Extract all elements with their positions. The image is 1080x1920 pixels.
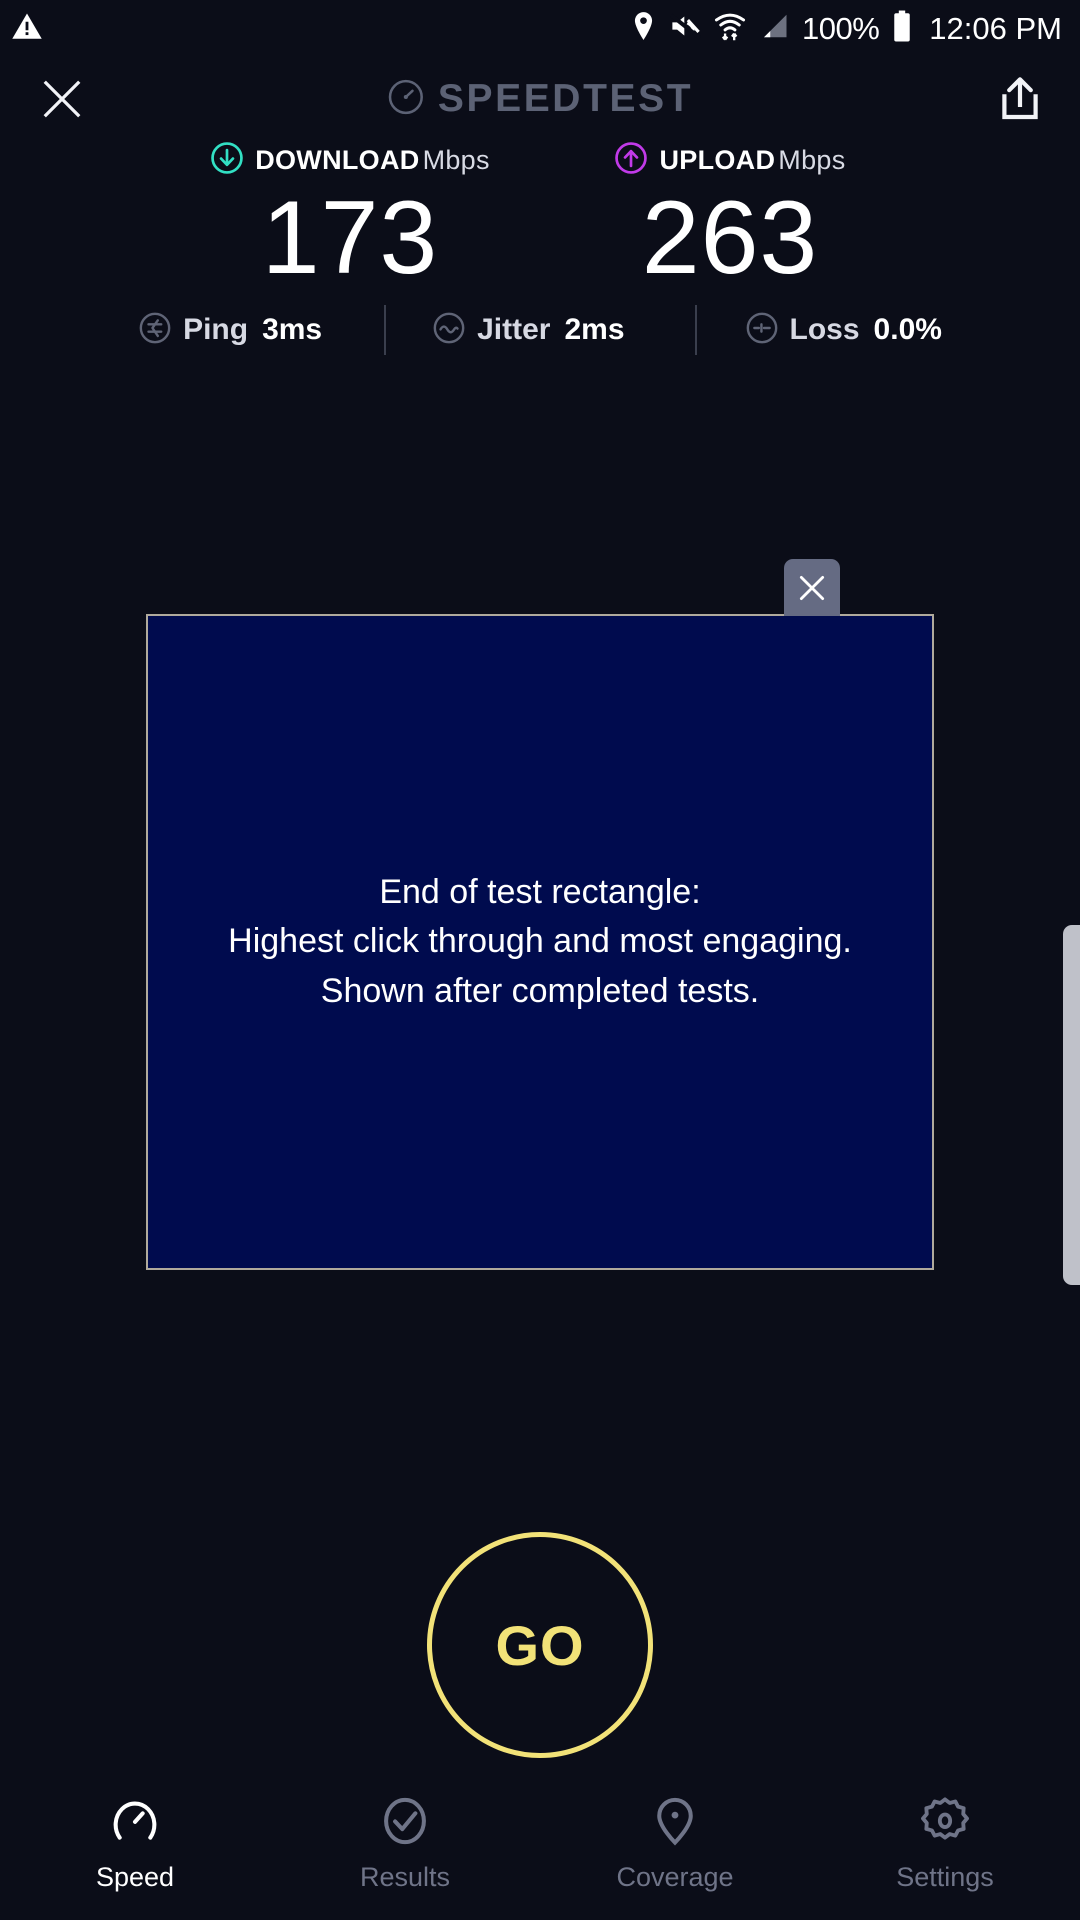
jitter-icon	[432, 311, 466, 350]
nav-label-speed: Speed	[96, 1862, 174, 1893]
nav-label-results: Results	[360, 1862, 450, 1893]
nav-item-speed[interactable]: Speed	[0, 1794, 270, 1893]
metrics-row: Ping 3ms Jitter 2ms	[0, 304, 1080, 356]
metric-divider	[384, 305, 386, 355]
metric-loss: Loss 0.0%	[745, 311, 942, 350]
close-button[interactable]	[34, 71, 90, 127]
download-label: DOWNLOADMbps	[255, 145, 490, 176]
upload-unit: Mbps	[778, 145, 845, 175]
gear-icon	[918, 1794, 972, 1848]
download-label-row: DOWNLOADMbps	[210, 140, 490, 180]
bottom-navigation: Speed Results Coverage Settings	[0, 1778, 1080, 1920]
status-bar-clock: 12:06 PM	[929, 13, 1062, 44]
warning-triangle-icon	[10, 9, 44, 48]
mute-icon	[670, 11, 701, 46]
metric-ping: Ping 3ms	[138, 311, 322, 350]
battery-full-icon	[892, 10, 912, 47]
close-icon	[796, 572, 828, 604]
share-icon[interactable]	[992, 71, 1048, 127]
download-unit: Mbps	[423, 145, 490, 175]
upload-value: 263	[642, 186, 819, 290]
location-pin-icon	[630, 11, 657, 46]
metric-ping-label: Ping	[183, 313, 248, 347]
upload-label-row: UPLOADMbps	[614, 140, 845, 180]
scrollbar-thumb[interactable]	[1063, 925, 1080, 1285]
metric-jitter-label: Jitter	[477, 313, 550, 347]
ping-icon	[138, 311, 172, 350]
speeds-row: DOWNLOADMbps 173 UPLOADMbps 263	[0, 140, 1080, 290]
metric-divider	[695, 305, 697, 355]
upload-label: UPLOADMbps	[659, 145, 845, 176]
metric-loss-label: Loss	[790, 313, 860, 347]
metric-loss-value: 0.0%	[874, 313, 942, 347]
battery-percent-label: 100%	[802, 13, 879, 44]
nav-item-settings[interactable]: Settings	[810, 1794, 1080, 1893]
cell-signal-icon	[759, 11, 789, 46]
upload-arrow-icon	[614, 141, 648, 180]
app-header: SPEEDTEST	[0, 60, 1080, 138]
location-pin-icon	[648, 1794, 702, 1848]
metric-jitter-value: 2ms	[564, 313, 624, 347]
download-value: 173	[262, 186, 439, 290]
download-arrow-icon	[210, 141, 244, 180]
brand-title: SPEEDTEST	[438, 77, 693, 121]
nav-item-coverage[interactable]: Coverage	[540, 1794, 810, 1893]
loss-icon	[745, 311, 779, 350]
download-block: DOWNLOADMbps 173	[160, 140, 540, 290]
go-button[interactable]: GO	[427, 1532, 653, 1758]
speedometer-icon	[387, 78, 425, 121]
go-button-label: GO	[495, 1613, 584, 1678]
speedometer-icon	[108, 1794, 162, 1848]
ad-line-2: Highest click through and most engaging.	[228, 917, 852, 967]
ad-close-button[interactable]	[784, 559, 840, 616]
ad-banner[interactable]: End of test rectangle: Highest click thr…	[146, 614, 934, 1270]
ad-line-3: Shown after completed tests.	[228, 967, 852, 1017]
metric-jitter: Jitter 2ms	[432, 311, 624, 350]
advertisement: End of test rectangle: Highest click thr…	[146, 614, 934, 1270]
check-circle-icon	[378, 1794, 432, 1848]
status-bar-left	[10, 9, 44, 48]
brand: SPEEDTEST	[387, 77, 693, 121]
ad-line-1: End of test rectangle:	[228, 868, 852, 918]
wifi-icon	[714, 9, 746, 47]
results-panel: DOWNLOADMbps 173 UPLOADMbps 263	[0, 140, 1080, 356]
status-bar: 100% 12:06 PM	[0, 0, 1080, 56]
nav-label-settings: Settings	[896, 1862, 994, 1893]
upload-block: UPLOADMbps 263	[540, 140, 920, 290]
nav-label-coverage: Coverage	[616, 1862, 733, 1893]
status-bar-right: 100% 12:06 PM	[630, 9, 1062, 47]
metric-ping-value: 3ms	[262, 313, 322, 347]
nav-item-results[interactable]: Results	[270, 1794, 540, 1893]
ad-text: End of test rectangle: Highest click thr…	[218, 868, 862, 1017]
